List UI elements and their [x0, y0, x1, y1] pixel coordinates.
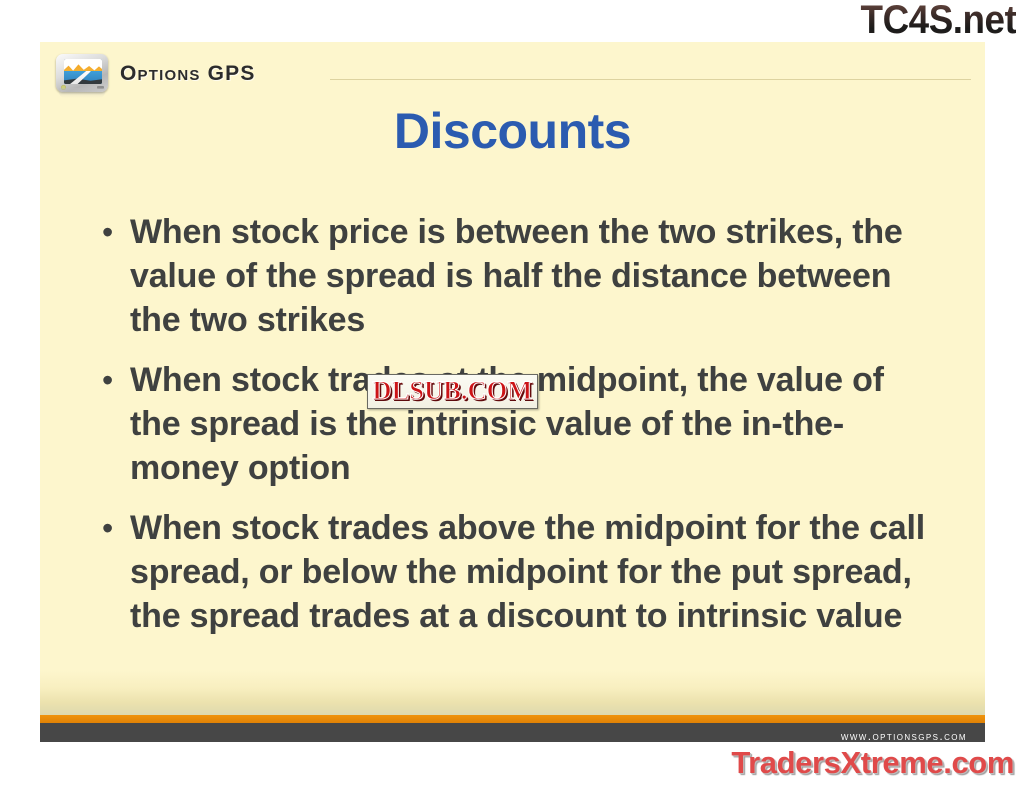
gps-device-shell: [56, 54, 108, 92]
slide-header: Options GPS: [40, 42, 985, 100]
logo-wordmark: Options GPS: [120, 62, 256, 86]
dlsub-watermark: DLSUB.COM: [367, 374, 538, 409]
gps-device-reflection: [59, 88, 105, 98]
bullet-marker-icon: •: [96, 506, 130, 550]
options-gps-logo-icon: [56, 54, 108, 94]
bullet-text: When stock price is between the two stri…: [130, 210, 930, 342]
bullet-item: • When stock trades above the midpoint f…: [96, 506, 956, 638]
header-divider-rule: [330, 79, 971, 80]
bullet-list: • When stock price is between the two st…: [96, 210, 956, 654]
site-brand-tradersxtreme: TradersXtreme.com: [731, 745, 1014, 781]
site-brand-tc4s: TC4S.net: [860, 0, 1016, 40]
footer-website-url: www.OptionsGPS.com: [841, 729, 967, 742]
bullet-marker-icon: •: [96, 210, 130, 254]
bullet-marker-icon: •: [96, 358, 130, 402]
slide-bottom-fade: [40, 670, 985, 715]
bullet-text: When stock trades above the midpoint for…: [130, 506, 930, 638]
bullet-item: • When stock price is between the two st…: [96, 210, 956, 342]
slide-title: Discounts: [40, 102, 985, 160]
footer-orange-bar: [40, 715, 985, 723]
gps-screen: [64, 59, 102, 84]
dlsub-watermark-text: DLSUB.COM: [372, 377, 532, 405]
